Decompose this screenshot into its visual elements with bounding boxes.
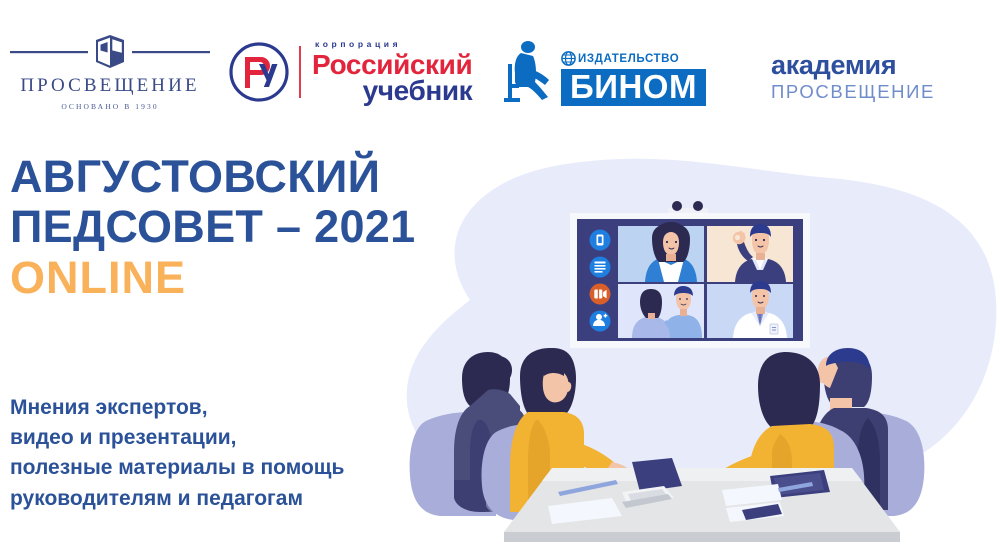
chat-lines-icon: [590, 257, 611, 278]
rossiysky-name: Российский учебник: [312, 52, 472, 105]
video-call-screen: [570, 213, 810, 348]
participant-tile-woman: [618, 222, 704, 282]
logo-akademia-prosveshchenie[interactable]: академия ПРОСВЕЩЕНИЕ: [771, 52, 935, 102]
event-subtitle: Мнения экспертов, видео и презентации, п…: [10, 393, 344, 514]
event-headline: АВГУСТОВСКИЙ ПЕДСОВЕТ – 2021 ONLINE: [10, 152, 415, 303]
partner-logo-bar: ПРОСВЕЩЕНИЕ ОСНОВАНО В 1930 ко: [0, 0, 1000, 130]
logo-rossiysky-uchebnik[interactable]: корпорация Российский учебник: [228, 40, 472, 104]
headline-online: ONLINE: [10, 253, 415, 303]
headline-line1: АВГУСТОВСКИЙ: [10, 152, 415, 202]
logo-binom[interactable]: ИЗДАТЕЛЬСТВО БИНОМ: [503, 40, 706, 106]
rossiysky-name-line2: учебник: [312, 78, 472, 104]
prosveshchenie-name: ПРОСВЕЩЕНИЕ: [20, 75, 199, 97]
subtitle-line1: Мнения экспертов,: [10, 393, 344, 423]
participant-tile-doctor: [707, 281, 793, 338]
subtitle-line2: видео и презентации,: [10, 423, 344, 453]
logo-divider: [299, 46, 301, 98]
ru-monogram-icon: [228, 41, 290, 103]
participant-tile-couple: [618, 284, 704, 338]
binom-publisher-label: ИЗДАТЕЛЬСТВО: [578, 53, 679, 65]
binom-name: БИНОМ: [561, 69, 706, 106]
logo-prosveshchenie[interactable]: ПРОСВЕЩЕНИЕ ОСНОВАНО В 1930: [10, 32, 210, 111]
subtitle-line4: руководителям и педагогам: [10, 484, 344, 514]
seated-person-icon: [503, 40, 555, 106]
headline-line2: ПЕДСОВЕТ – 2021: [10, 202, 415, 252]
akademia-name-line1: академия: [771, 52, 896, 79]
video-conference-meeting-illustration: [400, 120, 1000, 550]
akademia-name-line2: ПРОСВЕЩЕНИЕ: [771, 83, 935, 102]
prosveshchenie-tagline: ОСНОВАНО В 1930: [61, 102, 158, 111]
participant-tile-man-waving: [707, 224, 793, 282]
prosveshchenie-emblem-icon: [10, 32, 210, 72]
globe-icon: [561, 51, 576, 66]
rossiysky-corp-label: корпорация: [315, 40, 472, 49]
subtitle-line3: полезные материалы в помощь: [10, 453, 344, 483]
event-banner: ПРОСВЕЩЕНИЕ ОСНОВАНО В 1930 ко: [0, 0, 1000, 550]
